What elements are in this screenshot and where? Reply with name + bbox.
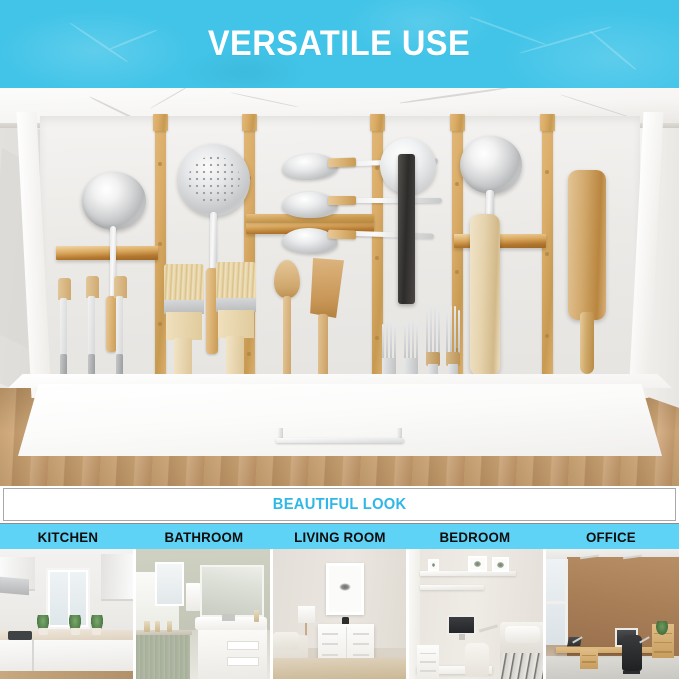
utensil-knife-tip (58, 278, 71, 300)
dresser-drawer-pull (353, 643, 369, 645)
office-desk-pedestal (580, 649, 597, 669)
bamboo-end-cap (540, 114, 555, 131)
bedroom-framed-art (428, 559, 439, 571)
bathroom-bottle-icon (167, 621, 172, 633)
bamboo-end-cap (450, 114, 465, 131)
bathroom-wainscot-panel (136, 635, 189, 679)
room-label-kitchen: KITCHEN (3, 524, 132, 549)
utensil-spoon-wood-accent (328, 158, 356, 168)
bedroom-striped-blanket (500, 653, 543, 679)
beautiful-look-banner: BEAUTIFUL LOOK (3, 488, 676, 521)
dresser-drawer-pull (322, 654, 338, 656)
kitchen-window (48, 570, 88, 627)
kitchen-sink (8, 631, 32, 640)
bamboo-shelf-horizontal (454, 234, 546, 248)
utensil-spoon-wood-accent (328, 196, 356, 205)
utensil-knife-blade (60, 298, 67, 358)
bamboo-end-cap (242, 114, 257, 131)
utensil-pastry-brush-neck (166, 312, 202, 340)
bedroom-framed-art (468, 556, 487, 573)
utensil-knife-tip (86, 276, 99, 298)
header-banner: VERSATILE USE (0, 0, 679, 88)
office-plant-icon (656, 621, 668, 635)
bedroom-framed-art (492, 557, 509, 573)
office-chair (622, 635, 642, 671)
living-room-lamp-shade (298, 606, 315, 623)
bedroom-pillow (505, 626, 540, 643)
bathroom-vanity-drawer (227, 641, 259, 650)
room-label-bedroom: BEDROOM (411, 524, 540, 549)
bedroom-wall-shelf (420, 585, 484, 590)
room-label-bathroom: BATHROOM (139, 524, 268, 549)
room-photo-living-room (273, 549, 406, 679)
office-desk (556, 647, 657, 654)
bamboo-end-cap (153, 114, 168, 131)
utensil-knife-tip (114, 276, 127, 298)
bamboo-divider-vertical (542, 122, 553, 384)
bathroom-hanging-towel (186, 583, 201, 612)
product-infographic: VERSATILE USE (0, 0, 679, 679)
bedroom-desk-chair (465, 643, 489, 677)
bedroom-monitor-stand (459, 634, 466, 641)
room-photo-strip (0, 549, 679, 679)
skimmer-holes (188, 156, 240, 204)
living-room-cushion (273, 632, 300, 650)
bathroom-faucet-icon (222, 614, 235, 621)
room-photo-kitchen (0, 549, 133, 679)
bathroom-bottle-icon (144, 621, 149, 633)
utensil-knife-blade (116, 296, 123, 358)
bamboo-shelf-horizontal (56, 246, 158, 260)
office-floor (546, 656, 679, 679)
utensil-skimmer-head (178, 144, 250, 216)
dresser-drawer-pull (322, 643, 338, 645)
kitchen-plant-pot (71, 628, 80, 635)
kitchen-drawer[interactable] (40, 116, 640, 388)
drawer-pull-handle[interactable] (276, 428, 404, 444)
bedroom-monitor (447, 615, 476, 635)
living-room-framed-art (326, 563, 363, 615)
utensil-ladle-bowl (82, 172, 146, 230)
utensil-pastry-brush-bristles (216, 262, 256, 298)
utensil-rolling-pin-handle (580, 312, 594, 374)
room-photo-bathroom (136, 549, 269, 679)
room-photo-office (546, 549, 679, 679)
bamboo-divider-vertical (244, 122, 255, 384)
room-label-living-room: LIVING ROOM (275, 524, 404, 549)
dresser-drawer-pull (353, 633, 369, 635)
utensil-wooden-spatula-handle (318, 314, 328, 382)
bathroom-window (155, 562, 184, 606)
room-photo-bedroom (409, 549, 542, 679)
utensil-pastry-brush-neck (218, 310, 254, 338)
bathroom-soap-dispenser-icon (254, 610, 259, 622)
utensil-knife-blade (88, 296, 95, 358)
room-label-office: OFFICE (547, 524, 676, 549)
living-room-floor (273, 658, 406, 679)
bathroom-mirror-cabinet (200, 565, 264, 617)
utensil-pizza-cutter-handle (398, 154, 415, 304)
bathroom-bottle-icon (155, 621, 160, 633)
kitchen-range-hood (0, 576, 29, 594)
bathroom-vanity-drawer (227, 657, 259, 666)
beautiful-look-text: BEAUTIFUL LOOK (273, 496, 407, 514)
utensil-wooden-spoon-handle (283, 296, 291, 382)
kitchen-plant-pot (92, 628, 101, 635)
utensil-fork-group (380, 302, 460, 384)
utensil-spoon-wood-accent (328, 230, 356, 240)
dresser-drawer-pull (353, 654, 369, 656)
office-chair-base (623, 671, 640, 674)
utensil-rolling-pin-wood (568, 170, 606, 320)
bathroom-vanity (198, 624, 267, 679)
kitchen-upper-cabinet-right (101, 554, 133, 601)
room-label-strip: KITCHEN BATHROOM LIVING ROOM BEDROOM OFF… (0, 523, 679, 549)
drawer-front-panel[interactable] (18, 384, 662, 456)
utensil-wooden-spoon-bowl (274, 260, 300, 298)
bedroom-desk-pedestal (417, 645, 438, 679)
header-title: VERSATILE USE (208, 24, 470, 64)
bamboo-end-cap (370, 114, 385, 131)
utensil-pastry-brush-bristles (164, 264, 204, 300)
kitchen-floor (0, 671, 133, 679)
utensil-measuring-scoop (460, 136, 522, 194)
dresser-drawer-pull (322, 633, 338, 635)
kitchen-plant-pot (39, 628, 48, 635)
hero-product-photo (0, 88, 679, 486)
utensil-rolling-pin-pale (470, 214, 500, 376)
office-window (546, 559, 569, 645)
